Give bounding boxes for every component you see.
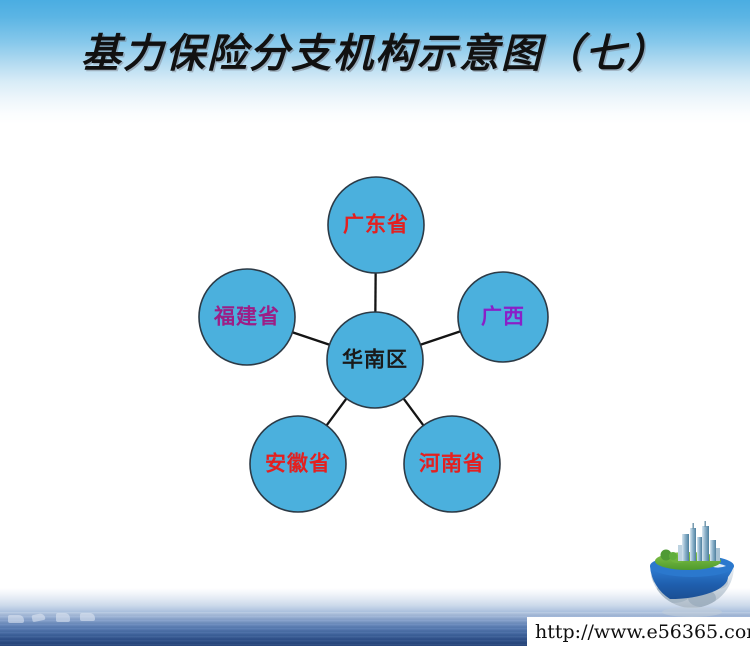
tree-icon xyxy=(669,552,677,560)
watermark-url: http://www.e56365.com xyxy=(535,621,750,643)
slide-canvas: 基力保险分支机构示意图（七） 广东省 广西 xyxy=(0,0,750,646)
node-anhui-label: 安徽省 xyxy=(265,451,331,476)
city-skyline-icon xyxy=(678,521,720,561)
node-anhui[interactable]: 安徽省 xyxy=(250,416,346,512)
node-guangxi[interactable]: 广西 xyxy=(458,272,548,362)
node-guangxi-label: 广西 xyxy=(481,304,525,329)
node-guangdong[interactable]: 广东省 xyxy=(328,177,424,273)
node-guangdong-label: 广东省 xyxy=(343,212,409,237)
earth-city-globe-image xyxy=(640,520,744,624)
node-fujian-label: 福建省 xyxy=(213,304,280,329)
globe-reflection xyxy=(662,607,722,617)
node-henan[interactable]: 河南省 xyxy=(404,416,500,512)
boat-silhouette-icon xyxy=(8,615,24,623)
boat-silhouette-icon xyxy=(80,613,95,621)
boat-silhouette-icon xyxy=(56,613,70,622)
node-huanan-label: 华南区 xyxy=(342,347,408,372)
node-fujian[interactable]: 福建省 xyxy=(199,269,295,365)
node-henan-label: 河南省 xyxy=(419,451,485,476)
org-chart-diagram: 广东省 广西 福建省 安徽省 河南省 xyxy=(0,0,750,646)
watermark-box: http://www.e56365.com xyxy=(527,617,750,646)
node-huanan-center[interactable]: 华南区 xyxy=(327,312,423,408)
